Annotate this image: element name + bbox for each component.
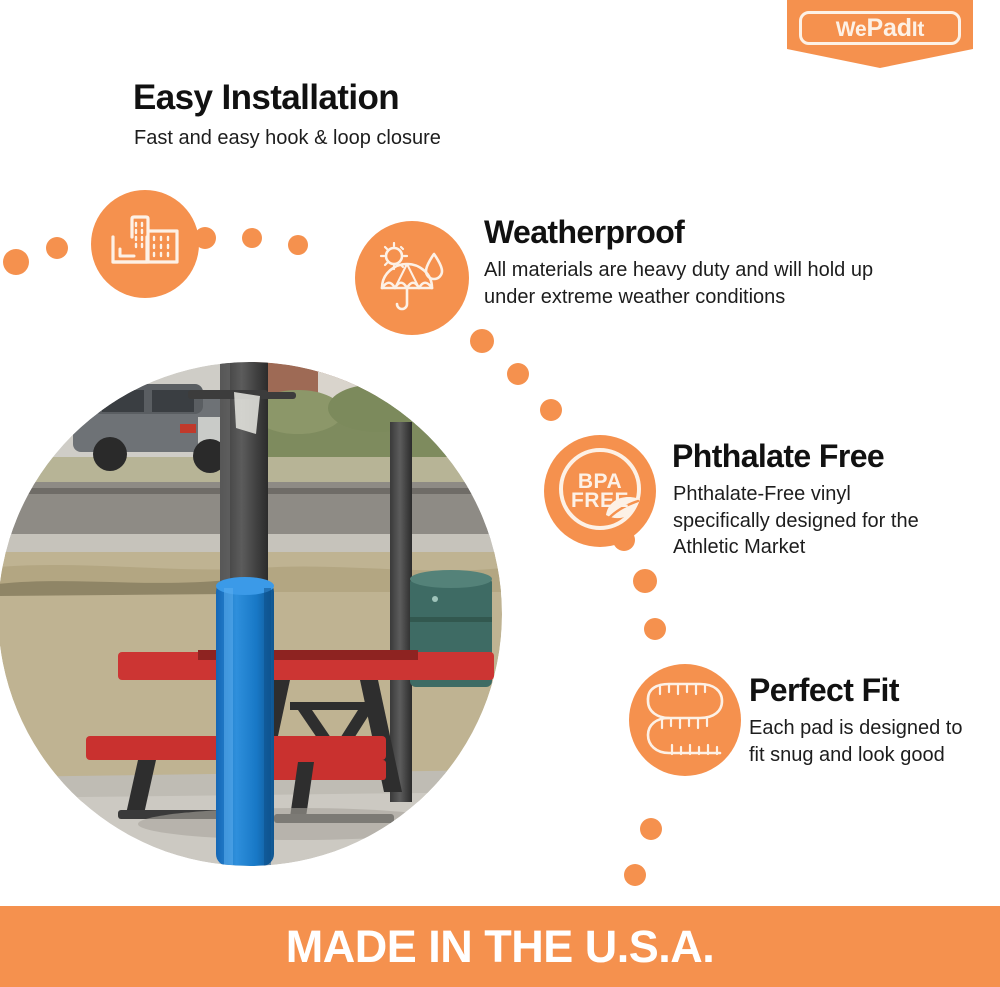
feature-description-weatherproof: All materials are heavy duty and will ho… xyxy=(484,257,914,310)
logo-text-we: We xyxy=(836,18,867,41)
trail-dot xyxy=(507,363,529,385)
feature-description-perfect-fit: Each pad is designed to fit snug and loo… xyxy=(749,715,981,768)
logo-border-box: WePadIt xyxy=(799,11,961,45)
feature-title-perfect-fit: Perfect Fit xyxy=(749,672,899,709)
made-in-usa-banner: MADE IN THE U.S.A. xyxy=(0,906,1000,987)
feature-title-easy-installation: Easy Installation xyxy=(133,78,399,118)
logo-text-pad: Pad xyxy=(867,14,912,42)
feature-title-weatherproof: Weatherproof xyxy=(484,214,684,251)
brand-logo[interactable]: WePadIt xyxy=(787,0,973,68)
feature-description-easy-installation: Fast and easy hook & loop closure xyxy=(134,125,554,152)
trail-dot xyxy=(46,237,68,259)
made-in-usa-text: MADE IN THE U.S.A. xyxy=(286,921,715,973)
trail-dot xyxy=(644,618,666,640)
trail-dot xyxy=(470,329,494,353)
bpa-free-leaf-icon: BPA FREE xyxy=(544,435,656,547)
trail-dot xyxy=(633,569,657,593)
logo-wordmark: WePadIt xyxy=(836,16,924,41)
infographic-page: WePadIt Easy Installation Fast and easy … xyxy=(0,0,1000,987)
trail-dot xyxy=(242,228,262,248)
trail-dot xyxy=(3,249,29,275)
feature-description-phthalate-free: Phthalate-Free vinyl specifically design… xyxy=(673,481,943,561)
trail-dot xyxy=(288,235,308,255)
bpa-label-line2: FREE xyxy=(571,489,629,512)
trail-dot xyxy=(640,818,662,840)
bpa-free-label: BPA FREE xyxy=(571,472,629,511)
logo-text-it: It xyxy=(912,18,924,41)
product-photo-blue-pole-pad xyxy=(0,362,502,866)
measuring-tape-icon xyxy=(629,664,741,776)
installation-buildings-icon xyxy=(91,190,199,298)
umbrella-sun-raindrop-icon xyxy=(355,221,469,335)
feature-title-phthalate-free: Phthalate Free xyxy=(672,438,884,475)
trail-dot xyxy=(540,399,562,421)
trail-dot xyxy=(624,864,646,886)
